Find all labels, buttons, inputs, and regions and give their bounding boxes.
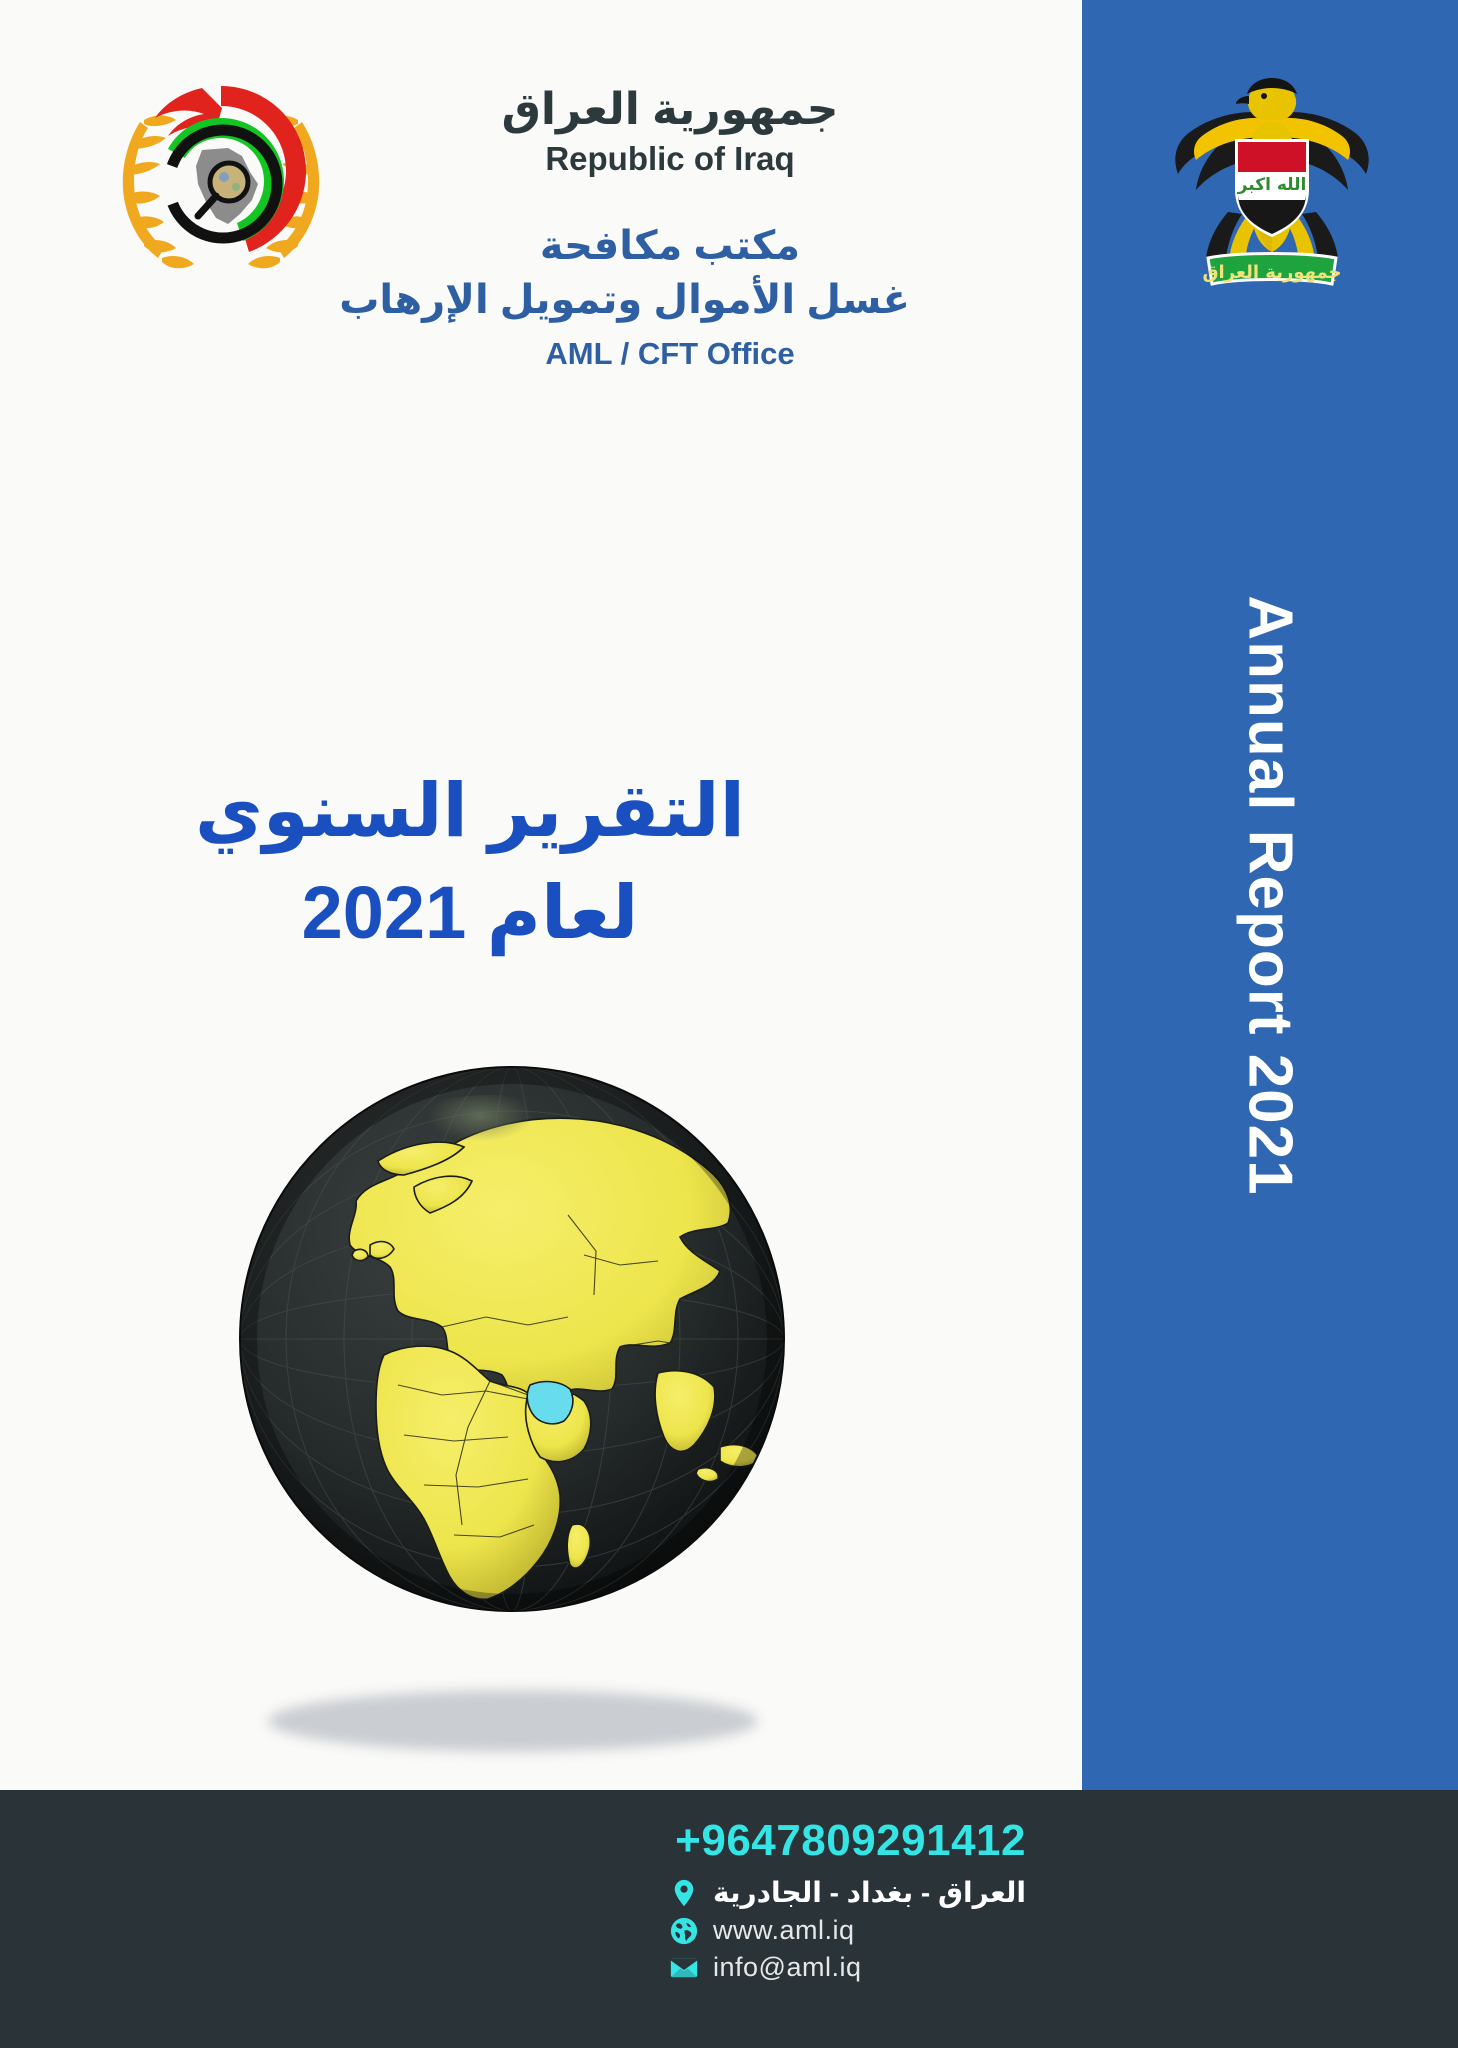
address-text: العراق - بغداد - الجادرية	[713, 1876, 1026, 1909]
office-name-english: AML / CFT Office	[430, 335, 910, 372]
world-globe-illustration	[228, 1055, 796, 1623]
header-text-block: جمهورية العراق Republic of Iraq مكتب مكا…	[430, 82, 910, 372]
office-name-arabic-line1: مكتب مكافحة	[430, 219, 910, 273]
website-text[interactable]: www.aml.iq	[713, 1915, 855, 1946]
shield-text: الله اكبر	[1237, 175, 1307, 195]
globe-drop-shadow	[268, 1690, 758, 1752]
phone-number[interactable]: +9647809291412	[669, 1816, 1026, 1866]
iraq-coat-of-arms: الله اكبر جمهورية العراق	[1168, 62, 1376, 292]
side-band-title-text: Annual Report 2021	[1235, 595, 1306, 1195]
email-text[interactable]: info@aml.iq	[713, 1952, 861, 1983]
office-name-arabic-line2: غسل الأموال وتمويل الإرهاب	[430, 273, 910, 327]
country-name-english: Republic of Iraq	[430, 139, 910, 179]
contact-website-row[interactable]: www.aml.iq	[669, 1915, 1026, 1946]
coat-scroll-text: جمهورية العراق	[1202, 262, 1341, 283]
footer-bar: +9647809291412 العراق - بغداد - الجادرية…	[0, 1790, 1458, 2048]
report-title: التقرير السنوي لعام 2021	[120, 760, 820, 964]
report-title-line2: لعام 2021	[120, 862, 820, 964]
envelope-icon	[669, 1953, 699, 1983]
contact-email-row[interactable]: info@aml.iq	[669, 1952, 1026, 1983]
aml-cft-office-emblem	[110, 58, 332, 280]
report-title-line1: التقرير السنوي	[120, 760, 820, 862]
contact-address-row: العراق - بغداد - الجادرية	[669, 1876, 1026, 1909]
globe-icon	[669, 1916, 699, 1946]
document-cover-page: Annual Report 2021 الله اكبر جمهورية الع…	[0, 0, 1458, 2048]
map-pin-icon	[669, 1878, 699, 1908]
country-name-arabic: جمهورية العراق	[430, 82, 910, 137]
contact-block: +9647809291412 العراق - بغداد - الجادرية…	[669, 1816, 1026, 1989]
